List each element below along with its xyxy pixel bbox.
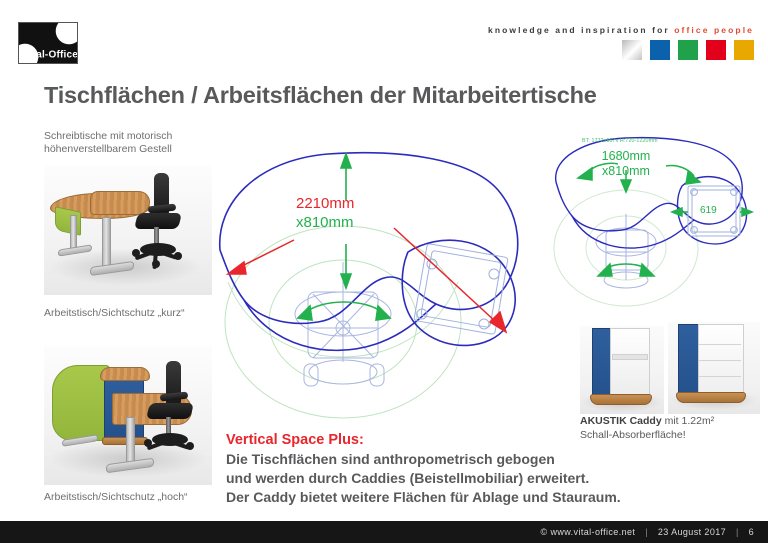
slide-canvas: Vital-Office® knowledge and inspiration … xyxy=(0,0,768,543)
privacy-panel-short xyxy=(55,206,81,236)
chair-caster xyxy=(186,442,194,450)
logo-wordmark: Vital-Office® xyxy=(23,49,78,60)
chair-caster xyxy=(152,260,160,268)
swatch-blue xyxy=(650,40,670,60)
caddy-caption-rest: mit 1.22m² xyxy=(662,415,715,427)
chair-caster xyxy=(174,252,182,260)
footer-site[interactable]: www.vital-office.net xyxy=(550,527,635,537)
caddy-side-panel xyxy=(592,328,612,402)
desk-outline-path xyxy=(220,153,518,324)
caddy-base-plinth xyxy=(676,392,746,403)
caddy-shelf-body xyxy=(610,328,650,400)
caddy-drawer-stack xyxy=(698,324,744,398)
caddy-top xyxy=(100,367,150,381)
swatch-red xyxy=(706,40,726,60)
dimension-depth-label-small: x810mm xyxy=(590,164,662,179)
caddy-side-panel xyxy=(678,324,700,400)
swatch-amber xyxy=(734,40,754,60)
intro-caption: Schreibtische mit motorisch höhenverstel… xyxy=(44,130,172,156)
dimension-width-label-small: 1680mm xyxy=(590,149,662,164)
caddy-caption-bold: AKUSTIK Caddy xyxy=(580,415,662,427)
footer-page-number: 6 xyxy=(749,527,754,537)
caddy-caption: AKUSTIK Caddy mit 1.22m² Schall-Absorber… xyxy=(580,414,768,442)
caddy-base-plinth xyxy=(102,437,148,445)
desk-leg-column-right xyxy=(102,217,111,269)
caddy-base-plinth xyxy=(590,394,652,405)
caddy-drawer-line xyxy=(699,360,741,361)
footer-separator: | xyxy=(645,527,648,537)
cad-drawing-top-right: BT: 1772x957x H:720-1220mm 1680mm x810mm… xyxy=(548,130,764,315)
vertical-space-heading: Vertical Space Plus: xyxy=(226,432,364,448)
caddy-shelf-divider xyxy=(612,354,648,360)
photo-caddy-drawers xyxy=(668,322,760,414)
footer-separator: | xyxy=(736,527,739,537)
chair-armrest xyxy=(148,204,177,214)
chair-caster xyxy=(132,249,140,257)
caption-desk-tall: Arbeitstisch/Sichtschutz „hoch“ xyxy=(44,491,188,504)
dimension-depth-label: x810mm xyxy=(296,213,354,232)
brand-swatch-row xyxy=(622,40,754,60)
footer-date: 23 August 2017 xyxy=(658,527,726,537)
header-tagline: knowledge and inspiration for office peo… xyxy=(488,25,754,35)
caddy-drawer-line xyxy=(699,344,741,345)
vertical-space-body: Die Tischflächen sind anthropometrisch g… xyxy=(226,450,621,507)
dimension-width-label: 2210mm xyxy=(296,194,354,213)
cad-main-svg xyxy=(208,132,558,422)
footer-text: © www.vital-office.net | 23 August 2017 … xyxy=(540,527,754,537)
swatch-green xyxy=(678,40,698,60)
page-title: Tischflächen / Arbeitsflächen der Mitarb… xyxy=(44,82,597,109)
caddy-caption-line2: Schall-Absorberfläche! xyxy=(580,429,686,441)
caddy-dimension-label: 619 xyxy=(700,205,717,216)
caddy-drawer-line xyxy=(699,376,741,377)
photo-desk-short-screen xyxy=(44,165,212,295)
tagline-plain: knowledge and inspiration for xyxy=(488,25,670,35)
caption-desk-short: Arbeitstisch/Sichtschutz „kurz“ xyxy=(44,307,185,320)
footer-copyright: © xyxy=(540,527,547,537)
vital-office-logo: Vital-Office® xyxy=(18,22,78,64)
spec-note-label: BT: 1772x957x H:720-1220mm xyxy=(582,138,658,144)
tagline-accent: office people xyxy=(674,25,754,35)
cad-drawing-main: 2210mm x810mm xyxy=(208,132,558,422)
photo-desk-tall-screen xyxy=(44,345,212,485)
swatch-silver xyxy=(622,40,642,60)
chair-caster xyxy=(144,439,152,447)
chair-backrest xyxy=(166,361,181,409)
desk-surface-extension xyxy=(90,191,150,215)
slide-footer: © www.vital-office.net | 23 August 2017 … xyxy=(0,521,768,543)
photo-caddy-open xyxy=(580,326,664,414)
